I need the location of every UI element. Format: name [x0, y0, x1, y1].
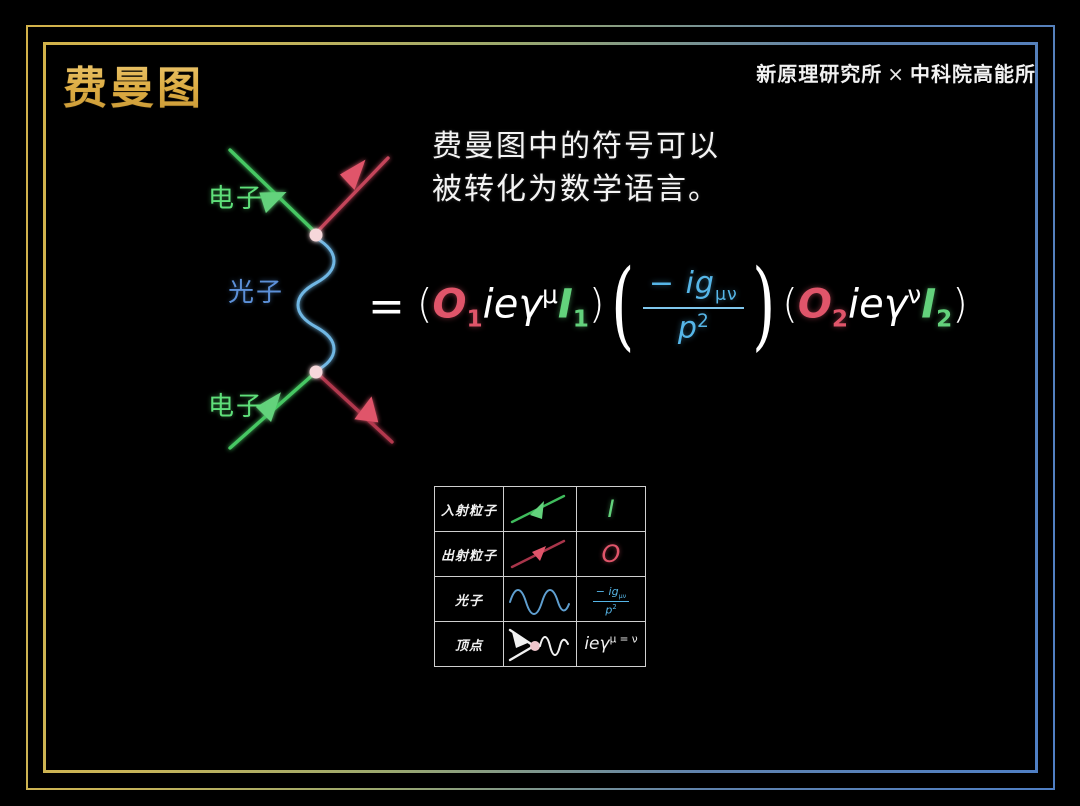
- blue-wave-icon: [504, 582, 574, 616]
- outgoing-electron-line-top: [316, 158, 388, 233]
- equals-sign: =: [368, 281, 405, 332]
- photon-propagator-fraction: − igμν p2: [643, 266, 744, 346]
- caption-line-2: 被转化为数学语言。: [432, 169, 720, 212]
- propagator-open-paren: (: [612, 271, 635, 340]
- group1-open-paren: (: [417, 281, 433, 327]
- legend-math-photon: − igμν p2: [577, 577, 646, 622]
- group1-operator-O: O: [432, 281, 466, 327]
- legend-math-outgoing-text: O: [602, 540, 621, 568]
- legend-symbol-outgoing: [504, 532, 577, 577]
- group2-vertex-index: ν: [907, 280, 921, 309]
- vertex-dot-top: [310, 229, 323, 242]
- group1-vertex-index: μ: [542, 280, 558, 309]
- propagator-close-paren: ): [752, 271, 775, 340]
- legend-photon-propagator-fraction: − igμν p2: [593, 585, 629, 617]
- legend-math-outgoing: O: [577, 532, 646, 577]
- propagator-numerator-main: − ig: [649, 266, 715, 301]
- feynman-rules-legend-table: 入射粒子 I 出射粒子 O: [434, 486, 646, 667]
- group2-operator-O-subscript: 2: [832, 305, 848, 332]
- group2-operator-O: O: [798, 281, 832, 327]
- legend-label-incoming: 入射粒子: [435, 487, 504, 532]
- legend-math-incoming: I: [577, 487, 646, 532]
- legend-photon-numerator-main: − ig: [596, 585, 619, 598]
- legend-photon-denominator-exponent: 2: [612, 603, 616, 611]
- group2-open-paren: (: [782, 281, 798, 327]
- group2-operator-I-subscript: 2: [936, 305, 952, 332]
- outgoing-electron-line-bottom: [316, 372, 392, 442]
- legend-photon-denominator: p2: [602, 602, 619, 617]
- brand-left-label: 新原理研究所: [756, 62, 882, 86]
- legend-label-photon: 光子: [435, 577, 504, 622]
- equation-group-2: (O2ieγνI2): [782, 280, 968, 332]
- group1-operator-I-subscript: 1: [573, 305, 589, 332]
- legend-vertex-indices: μ = ν: [610, 634, 638, 646]
- page-title: 费曼图: [63, 52, 204, 116]
- propagator-denominator-exponent: 2: [697, 311, 709, 332]
- legend-symbol-incoming: [504, 487, 577, 532]
- legend-symbol-vertex: [504, 622, 577, 667]
- legend-label-vertex: 顶点: [435, 622, 504, 667]
- table-row: 入射粒子 I: [435, 487, 646, 532]
- propagator-numerator-indices: μν: [715, 285, 738, 305]
- diagram-label-photon: 光子: [228, 272, 284, 309]
- group2-vertex-factor: ieγ: [848, 281, 907, 327]
- brand-right-label: 中科院高能所: [910, 62, 1036, 86]
- legend-math-incoming-text: I: [607, 495, 614, 523]
- group2-close-paren: ): [952, 281, 968, 327]
- caption-text: 费曼图中的符号可以 被转化为数学语言。: [432, 126, 720, 211]
- vertex-dot-bottom: [310, 366, 323, 379]
- group1-close-paren: ): [589, 281, 605, 327]
- diagram-label-electron-bottom: 电子: [208, 386, 264, 423]
- caption-line-1: 费曼图中的符号可以: [432, 126, 720, 169]
- photon-wave-line: [298, 238, 334, 372]
- legend-label-outgoing: 出射粒子: [435, 532, 504, 577]
- legend-photon-numerator: − igμν: [593, 585, 629, 601]
- legend-symbol-photon: [504, 577, 577, 622]
- legend-vertex-main: ieγ: [584, 634, 609, 654]
- group1-vertex-factor: ieγ: [483, 281, 542, 327]
- propagator-denominator-main: p: [678, 311, 697, 346]
- table-row: 顶点 ieγμ = ν: [435, 622, 646, 667]
- propagator-denominator: p2: [672, 309, 715, 346]
- brand-separator-icon: ×: [882, 62, 910, 86]
- vertex-icon: [504, 624, 574, 664]
- feynman-amplitude-equation: = (O1ieγμI1) ( − igμν p2 ) (O2ieγνI2): [368, 258, 968, 354]
- group1-operator-I: I: [558, 281, 573, 327]
- red-arrow-outgoing-icon: [504, 534, 574, 574]
- legend-photon-numerator-indices: μν: [619, 592, 627, 600]
- diagram-label-electron-top: 电子: [208, 178, 264, 215]
- group1-operator-O-subscript: 1: [467, 305, 483, 332]
- equation-group-1: (O1ieγμI1): [417, 280, 605, 332]
- legend-math-vertex: ieγμ = ν: [577, 622, 646, 667]
- brand-attribution: 新原理研究所×中科院高能所: [756, 58, 1036, 87]
- table-row: 光子 − igμν p2: [435, 577, 646, 622]
- green-arrow-incoming-icon: [504, 489, 574, 529]
- legend-math-vertex-text: ieγμ = ν: [584, 634, 637, 654]
- group2-operator-I: I: [921, 281, 936, 327]
- propagator-numerator: − igμν: [643, 266, 744, 307]
- table-row: 出射粒子 O: [435, 532, 646, 577]
